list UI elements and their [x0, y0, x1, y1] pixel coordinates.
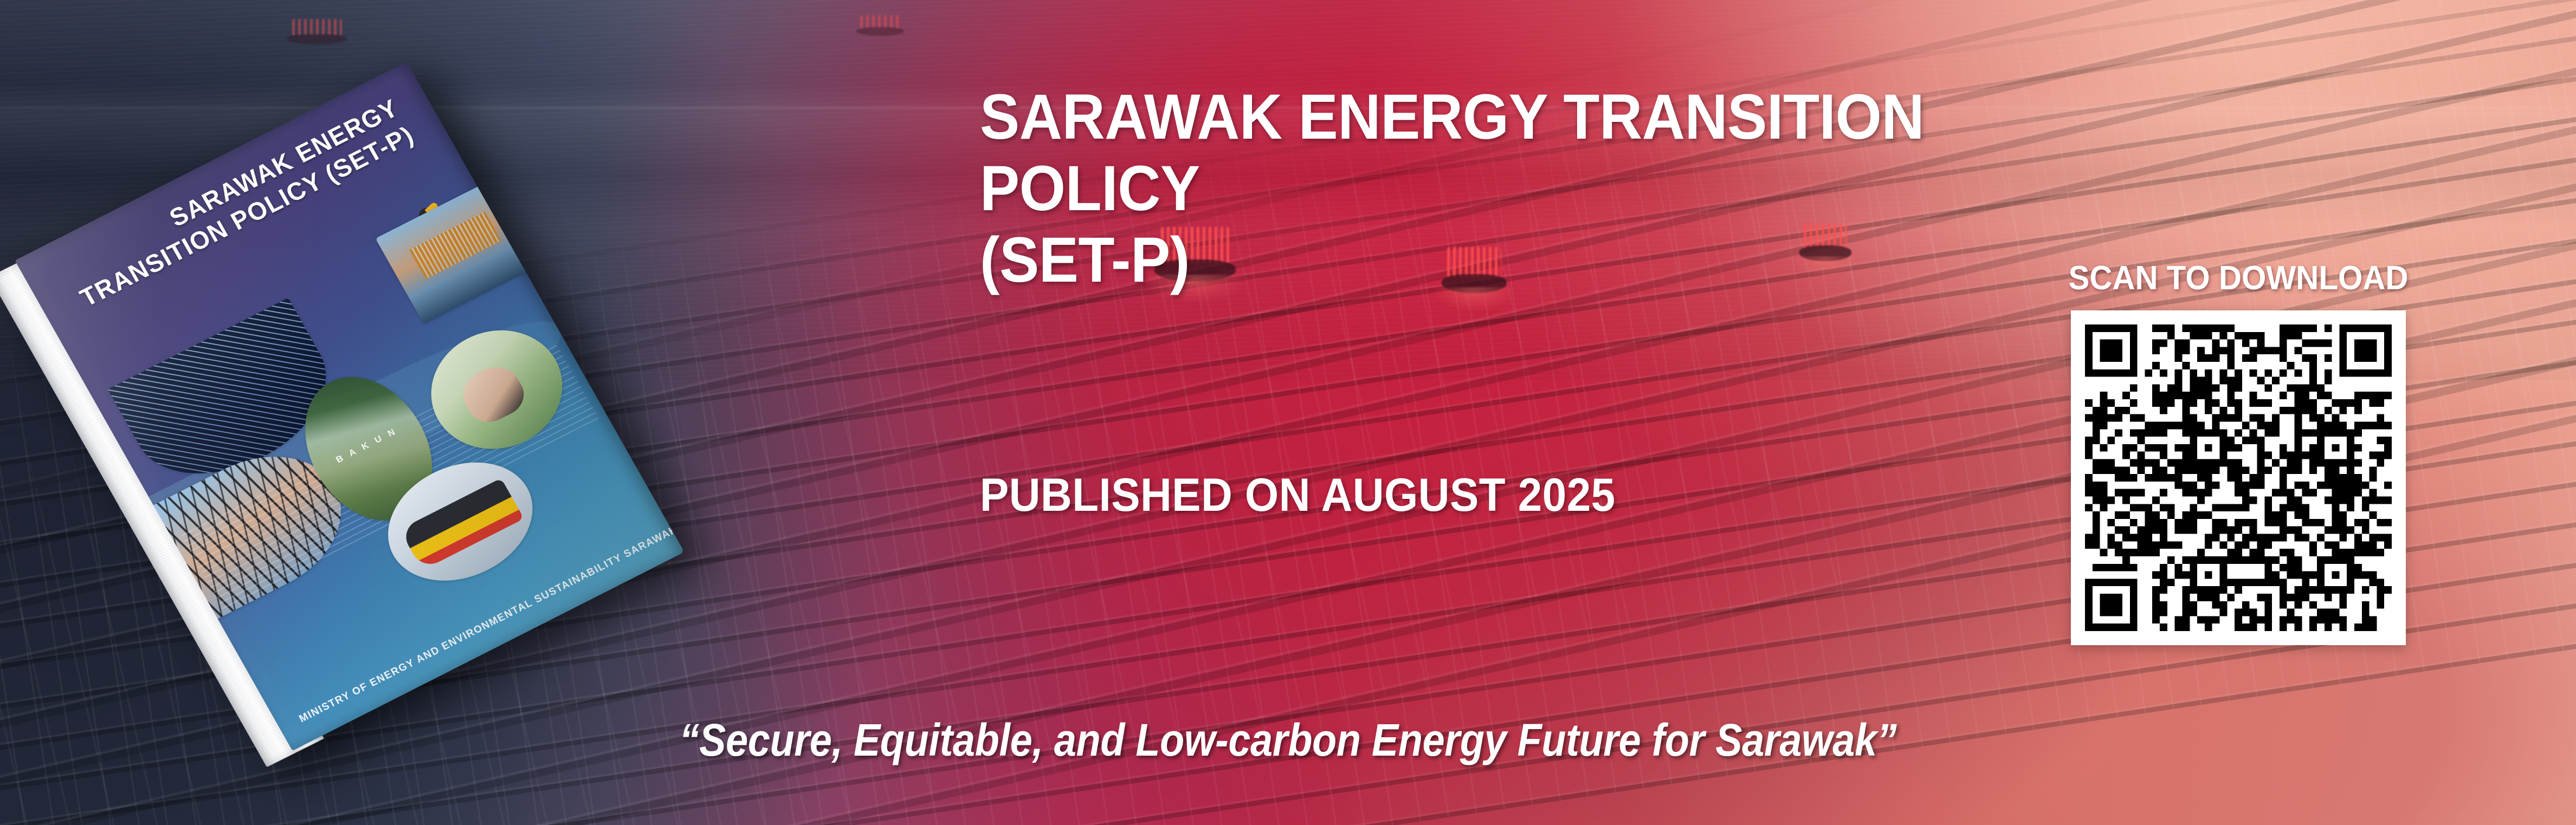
banner-title-line-2: (SET-P) — [980, 224, 1988, 296]
qr-code-card[interactable] — [2071, 310, 2406, 645]
set-p-promo-banner: SARAWAK ENERGY TRANSITION POLICY (SET-P)… — [0, 0, 2576, 825]
published-date-text: PUBLISHED ON AUGUST 2025 — [980, 469, 1988, 522]
banner-tagline: “Secure, Equitable, and Low-carbon Energ… — [154, 714, 2422, 766]
banner-title-line-1: SARAWAK ENERGY TRANSITION POLICY — [980, 81, 1988, 224]
book-cover: SARAWAK ENERGY TRANSITION POLICY (SET-P)… — [15, 62, 684, 751]
qr-download-block[interactable]: SCAN TO DOWNLOAD — [2027, 259, 2450, 645]
banner-main-title: SARAWAK ENERGY TRANSITION POLICY (SET-P) — [980, 81, 1988, 296]
policy-book-mockup: SARAWAK ENERGY TRANSITION POLICY (SET-P)… — [33, 65, 878, 693]
qr-code-icon[interactable] — [2085, 324, 2392, 631]
scan-to-download-label: SCAN TO DOWNLOAD — [2039, 259, 2437, 297]
